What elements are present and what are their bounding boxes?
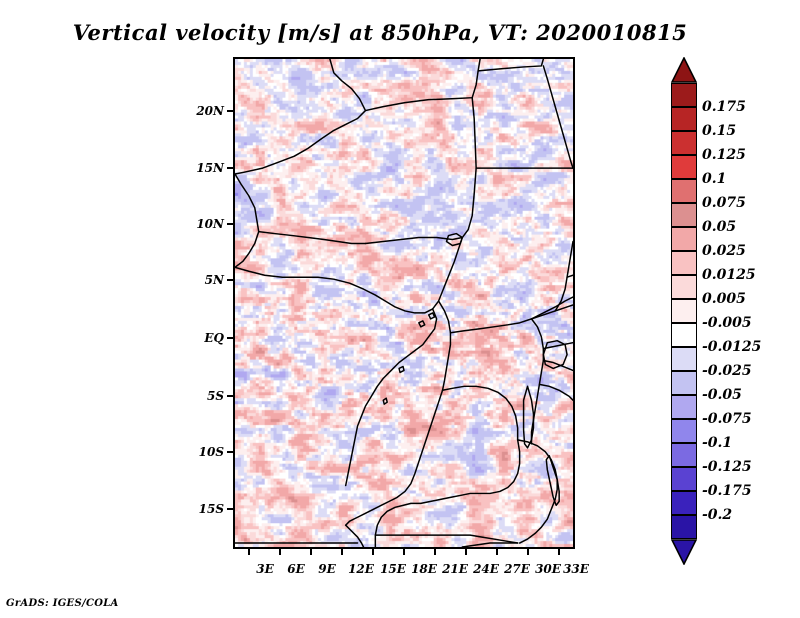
colorbar-tick-label-13: -0.075 (702, 411, 752, 427)
colorbar-tick-label-14: -0.1 (702, 435, 732, 451)
colorbar-band-4 (671, 179, 697, 203)
colorbar-tick-label-16: -0.175 (702, 483, 752, 499)
colorbar-tick-label-10: -0.0125 (702, 339, 761, 355)
colorbar-band-2 (671, 131, 697, 155)
x-axis-label-3E: 3E (256, 562, 274, 576)
colorbar-band-11 (671, 347, 697, 371)
map-plot-area[interactable] (233, 57, 575, 549)
y-axis-label-15S: 15S (180, 502, 224, 516)
y-tick-4 (227, 337, 233, 339)
colorbar-tick-label-8: 0.005 (702, 291, 746, 307)
x-axis-label-24E: 24E (473, 562, 499, 576)
colorbar[interactable] (671, 57, 697, 552)
x-axis-label-27E: 27E (504, 562, 530, 576)
y-axis-label-EQ: EQ (180, 331, 224, 345)
x-tick-8 (496, 549, 498, 555)
colorbar-cap-max (671, 57, 697, 83)
x-tick-0 (248, 549, 250, 555)
x-axis-label-15E: 15E (380, 562, 406, 576)
x-tick-3 (341, 549, 343, 555)
y-tick-3 (227, 279, 233, 281)
country-borders-overlay (235, 59, 573, 547)
x-tick-5 (403, 549, 405, 555)
y-tick-7 (227, 508, 233, 510)
x-tick-4 (372, 549, 374, 555)
y-axis-label-5S: 5S (180, 389, 224, 403)
y-tick-6 (227, 451, 233, 453)
x-tick-1 (279, 549, 281, 555)
x-axis-label-12E: 12E (348, 562, 374, 576)
colorbar-tick-label-3: 0.1 (702, 171, 726, 187)
y-tick-5 (227, 395, 233, 397)
colorbar-tick-label-17: -0.2 (702, 507, 732, 523)
colorbar-band-7 (671, 251, 697, 275)
colorbar-band-1 (671, 107, 697, 131)
y-axis-label-15N: 15N (180, 161, 224, 175)
y-axis-label-5N: 5N (180, 273, 224, 287)
colorbar-tick-label-11: -0.025 (702, 363, 752, 379)
colorbar-tick-label-4: 0.075 (702, 195, 746, 211)
x-tick-7 (465, 549, 467, 555)
x-axis-label-21E: 21E (442, 562, 468, 576)
x-tick-6 (434, 549, 436, 555)
colorbar-band-15 (671, 443, 697, 467)
colorbar-band-14 (671, 419, 697, 443)
page-title: Vertical velocity [m/s] at 850hPa, VT: 2… (0, 20, 760, 45)
y-tick-0 (227, 110, 233, 112)
x-axis-label-9E: 9E (318, 562, 336, 576)
colorbar-tick-label-2: 0.125 (702, 147, 746, 163)
colorbar-tick-label-6: 0.025 (702, 243, 746, 259)
colorbar-band-18 (671, 515, 697, 539)
colorbar-band-10 (671, 323, 697, 347)
colorbar-tick-label-12: -0.05 (702, 387, 742, 403)
y-axis-label-10N: 10N (180, 217, 224, 231)
colorbar-band-3 (671, 155, 697, 179)
colorbar-band-17 (671, 491, 697, 515)
x-tick-2 (310, 549, 312, 555)
colorbar-band-13 (671, 395, 697, 419)
y-tick-2 (227, 223, 233, 225)
colorbar-band-12 (671, 371, 697, 395)
x-axis-label-6E: 6E (287, 562, 305, 576)
colorbar-tick-label-7: 0.0125 (702, 267, 756, 283)
colorbar-band-16 (671, 467, 697, 491)
colorbar-band-9 (671, 299, 697, 323)
colorbar-cap-min (671, 539, 697, 565)
colorbar-tick-label-5: 0.05 (702, 219, 736, 235)
colorbar-band-6 (671, 227, 697, 251)
colorbar-band-8 (671, 275, 697, 299)
x-axis-label-33E: 33E (563, 562, 589, 576)
colorbar-band-0 (671, 83, 697, 107)
y-axis-label-10S: 10S (180, 445, 224, 459)
x-axis-label-18E: 18E (411, 562, 437, 576)
colorbar-tick-label-9: -0.005 (702, 315, 752, 331)
colorbar-tick-label-0: 0.175 (702, 99, 746, 115)
y-tick-1 (227, 167, 233, 169)
y-axis-label-20N: 20N (180, 104, 224, 118)
credit-text: GrADS: IGES/COLA (6, 598, 119, 609)
x-axis-label-30E: 30E (535, 562, 561, 576)
colorbar-band-5 (671, 203, 697, 227)
colorbar-tick-label-15: -0.125 (702, 459, 752, 475)
x-tick-9 (527, 549, 529, 555)
x-tick-10 (558, 549, 560, 555)
colorbar-tick-label-1: 0.15 (702, 123, 736, 139)
